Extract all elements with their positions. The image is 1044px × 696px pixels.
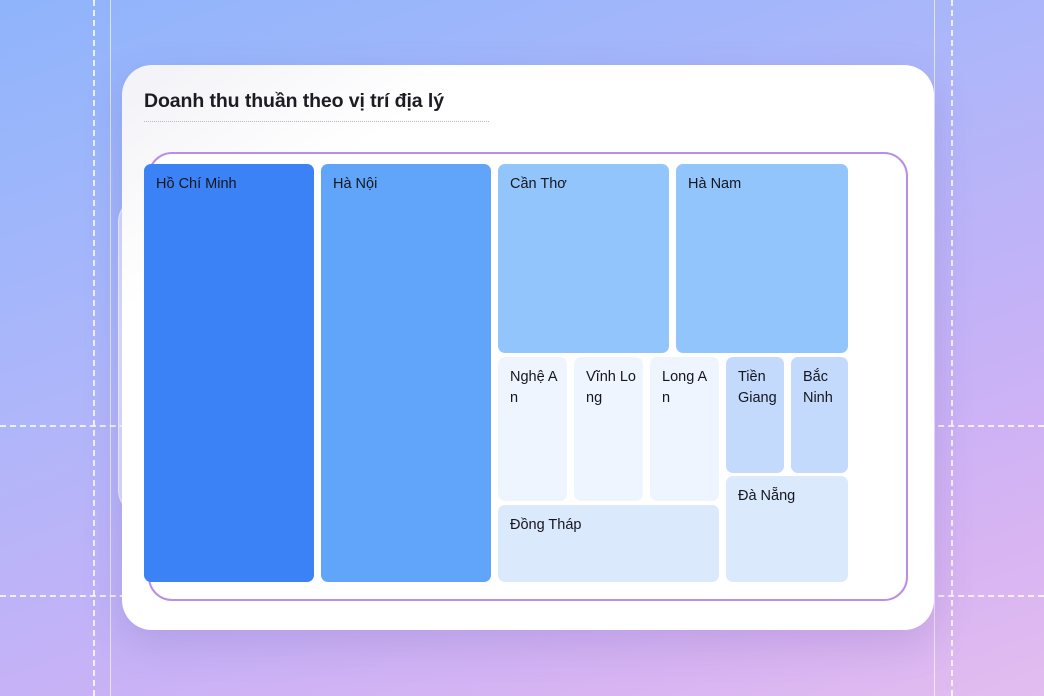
treemap-tile-label: Vĩnh Long bbox=[586, 367, 637, 409]
treemap-chart: Hồ Chí MinhHà NộiCần ThơHà NamNghệ AnVĩn… bbox=[144, 164, 848, 582]
treemap-tile[interactable]: Vĩnh Long bbox=[574, 357, 643, 501]
treemap-tile[interactable]: Đồng Tháp bbox=[498, 505, 719, 582]
page-title: Doanh thu thuần theo vị trí địa lý bbox=[144, 90, 444, 113]
treemap-tile[interactable]: Bắc Ninh bbox=[791, 357, 848, 473]
treemap-tile[interactable]: Cần Thơ bbox=[498, 164, 669, 353]
treemap-tile[interactable]: Hà Nội bbox=[321, 164, 491, 582]
treemap-tile-label: Hồ Chí Minh bbox=[156, 174, 308, 195]
treemap-tile[interactable]: Nghệ An bbox=[498, 357, 567, 501]
treemap-tile-label: Bắc Ninh bbox=[803, 367, 842, 409]
treemap-tile[interactable]: Tiền Giang bbox=[726, 357, 784, 473]
treemap-tile-label: Long An bbox=[662, 367, 713, 409]
treemap-tile-label: Đồng Tháp bbox=[510, 515, 713, 536]
chart-card: Doanh thu thuần theo vị trí địa lý Hồ Ch… bbox=[122, 65, 934, 630]
treemap-tile-label: Cần Thơ bbox=[510, 174, 663, 195]
guide-vertical-dashed-right bbox=[951, 0, 953, 696]
treemap-tile[interactable]: Hồ Chí Minh bbox=[144, 164, 314, 582]
title-divider bbox=[144, 121, 489, 122]
treemap-tile-label: Hà Nội bbox=[333, 174, 485, 195]
treemap-tile-label: Nghệ An bbox=[510, 367, 561, 409]
guide-vertical-solid-right bbox=[934, 0, 935, 696]
guide-vertical-dashed-left bbox=[93, 0, 95, 696]
treemap-tile[interactable]: Hà Nam bbox=[676, 164, 848, 353]
screenshot-stage: Doanh thu thuần theo vị trí địa lý Hồ Ch… bbox=[0, 0, 1044, 696]
treemap-tile-label: Hà Nam bbox=[688, 174, 842, 195]
guide-vertical-solid-left bbox=[110, 0, 111, 696]
treemap-tile[interactable]: Long An bbox=[650, 357, 719, 501]
treemap-tile-label: Tiền Giang bbox=[738, 367, 778, 409]
treemap-tile-label: Đà Nẵng bbox=[738, 486, 842, 507]
treemap-tile[interactable]: Đà Nẵng bbox=[726, 476, 848, 582]
